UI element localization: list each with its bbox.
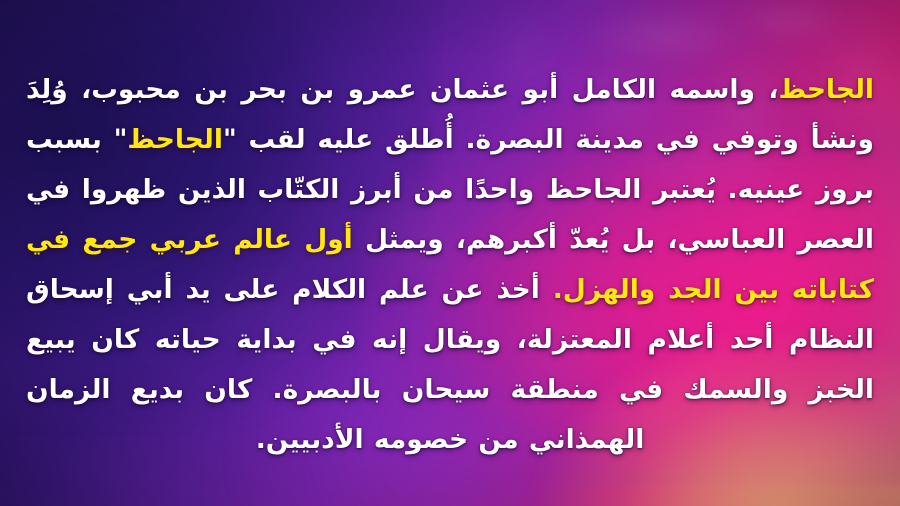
- highlighted-term: الجاحظ: [127, 124, 223, 155]
- text-layer: الجاحظ، واسمه الكامل أبو عثمان عمرو بن ب…: [0, 0, 900, 506]
- text-card: الجاحظ، واسمه الكامل أبو عثمان عمرو بن ب…: [0, 0, 900, 506]
- highlighted-term: الجاحظ: [778, 74, 874, 105]
- arabic-body-paragraph: الجاحظ، واسمه الكامل أبو عثمان عمرو بن ب…: [0, 27, 900, 465]
